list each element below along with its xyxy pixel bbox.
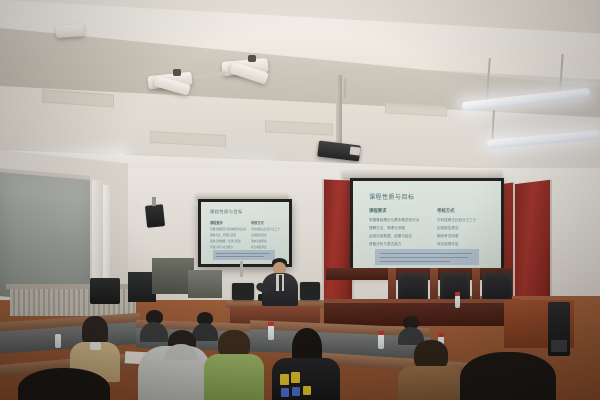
ceiling-projector-mount <box>336 72 342 146</box>
projection-screen-case-right <box>342 170 502 178</box>
slide-bullet: 运用实验数据、结果与结论 <box>210 239 241 243</box>
slide-bullet: 运用实验数据、结果与结论 <box>369 234 412 239</box>
track-light-left <box>148 66 196 92</box>
bottle-cap <box>378 331 384 335</box>
student-foreground-left <box>18 368 110 400</box>
water-bottle <box>55 334 61 348</box>
ceiling-spotlight-small <box>56 24 85 38</box>
slide-column-heading: 课程要求 <box>210 220 223 225</box>
slide-bullet: 综合成绩评定 <box>437 242 459 247</box>
student-foreground-right <box>460 352 556 400</box>
presenter-tie <box>279 275 282 291</box>
slide-bullet: 具备分析与表达能力 <box>369 242 401 247</box>
slide-column-heading: 课程要求 <box>369 208 387 214</box>
wall-mounted-speaker <box>145 204 165 228</box>
av-cabinet <box>90 278 120 304</box>
bottle-cap <box>455 292 460 296</box>
projection-screen-right[interactable]: 课程性质与目标 课程要求 考核方式 掌握基础理论与基本概念知识点 理解方法、原理… <box>350 178 504 274</box>
storage-cabinet <box>188 270 222 298</box>
classroom-photo: 课程性质与目标 课程要求 考核方式 掌握基础理论与基本概念知识点 理解方法、原理… <box>0 0 600 400</box>
projected-slide-left: 课程性质与目标 课程要求 考核方式 掌握基础理论与基本概念知识点 理解方法、原理… <box>201 202 289 264</box>
student-brown-top <box>400 340 462 400</box>
screen-support-left <box>240 261 243 277</box>
student-back-row <box>398 316 424 342</box>
student-tan-coat <box>72 316 120 376</box>
projected-slide-right: 课程性质与目标 课程要求 考核方式 掌握基础理论与基本概念知识点 理解方法、原理… <box>353 181 501 271</box>
water-bottle <box>378 334 384 349</box>
speaker-bracket <box>152 197 156 206</box>
student-gray-hoodie <box>138 330 210 400</box>
track-light-right <box>222 55 274 85</box>
slide-bullet: 理解方法、原理与流程 <box>369 226 405 231</box>
slide-callout-box <box>375 249 479 265</box>
slide-bullet: 综合成绩评定 <box>251 245 267 249</box>
water-bottle <box>455 295 460 308</box>
slide-title: 课程性质与目标 <box>210 209 243 215</box>
speaker-grille <box>551 340 567 352</box>
student-black-jacket <box>272 328 340 400</box>
slide-bullet: 平时成绩占比百分之三十 <box>251 227 280 231</box>
slide-bullet: 期末考试闭卷 <box>437 234 459 239</box>
slide-bullet: 期末考试闭卷 <box>251 239 267 243</box>
slide-bullet: 理解方法、原理与流程 <box>210 233 236 237</box>
slide-column-heading: 考核方式 <box>251 220 264 225</box>
projector-lens <box>350 146 361 155</box>
slide-bullet: 实验报告提交 <box>251 233 267 237</box>
presenter <box>258 258 304 306</box>
slide-column-heading: 考核方式 <box>437 208 455 214</box>
slide-bullet: 掌握基础理论与基本概念知识点 <box>369 218 419 223</box>
slide-bullet: 具备分析与表达能力 <box>210 245 233 249</box>
monitor-left[interactable] <box>232 283 254 300</box>
bottle-cap <box>438 333 444 337</box>
student-green-sweater <box>206 330 262 400</box>
slide-title: 课程性质与目标 <box>369 192 415 201</box>
projection-screen-left[interactable]: 课程性质与目标 课程要求 考核方式 掌握基础理论与基本概念知识点 理解方法、原理… <box>198 199 292 267</box>
slide-bullet: 平时成绩占比百分之三十 <box>437 218 477 223</box>
slide-bullet: 实验报告提交 <box>437 226 459 231</box>
slide-bullet: 掌握基础理论与基本概念知识点 <box>210 227 246 231</box>
wall-fixture <box>140 196 147 205</box>
panel-table-edge <box>324 299 520 303</box>
bottle-cap <box>268 322 274 326</box>
